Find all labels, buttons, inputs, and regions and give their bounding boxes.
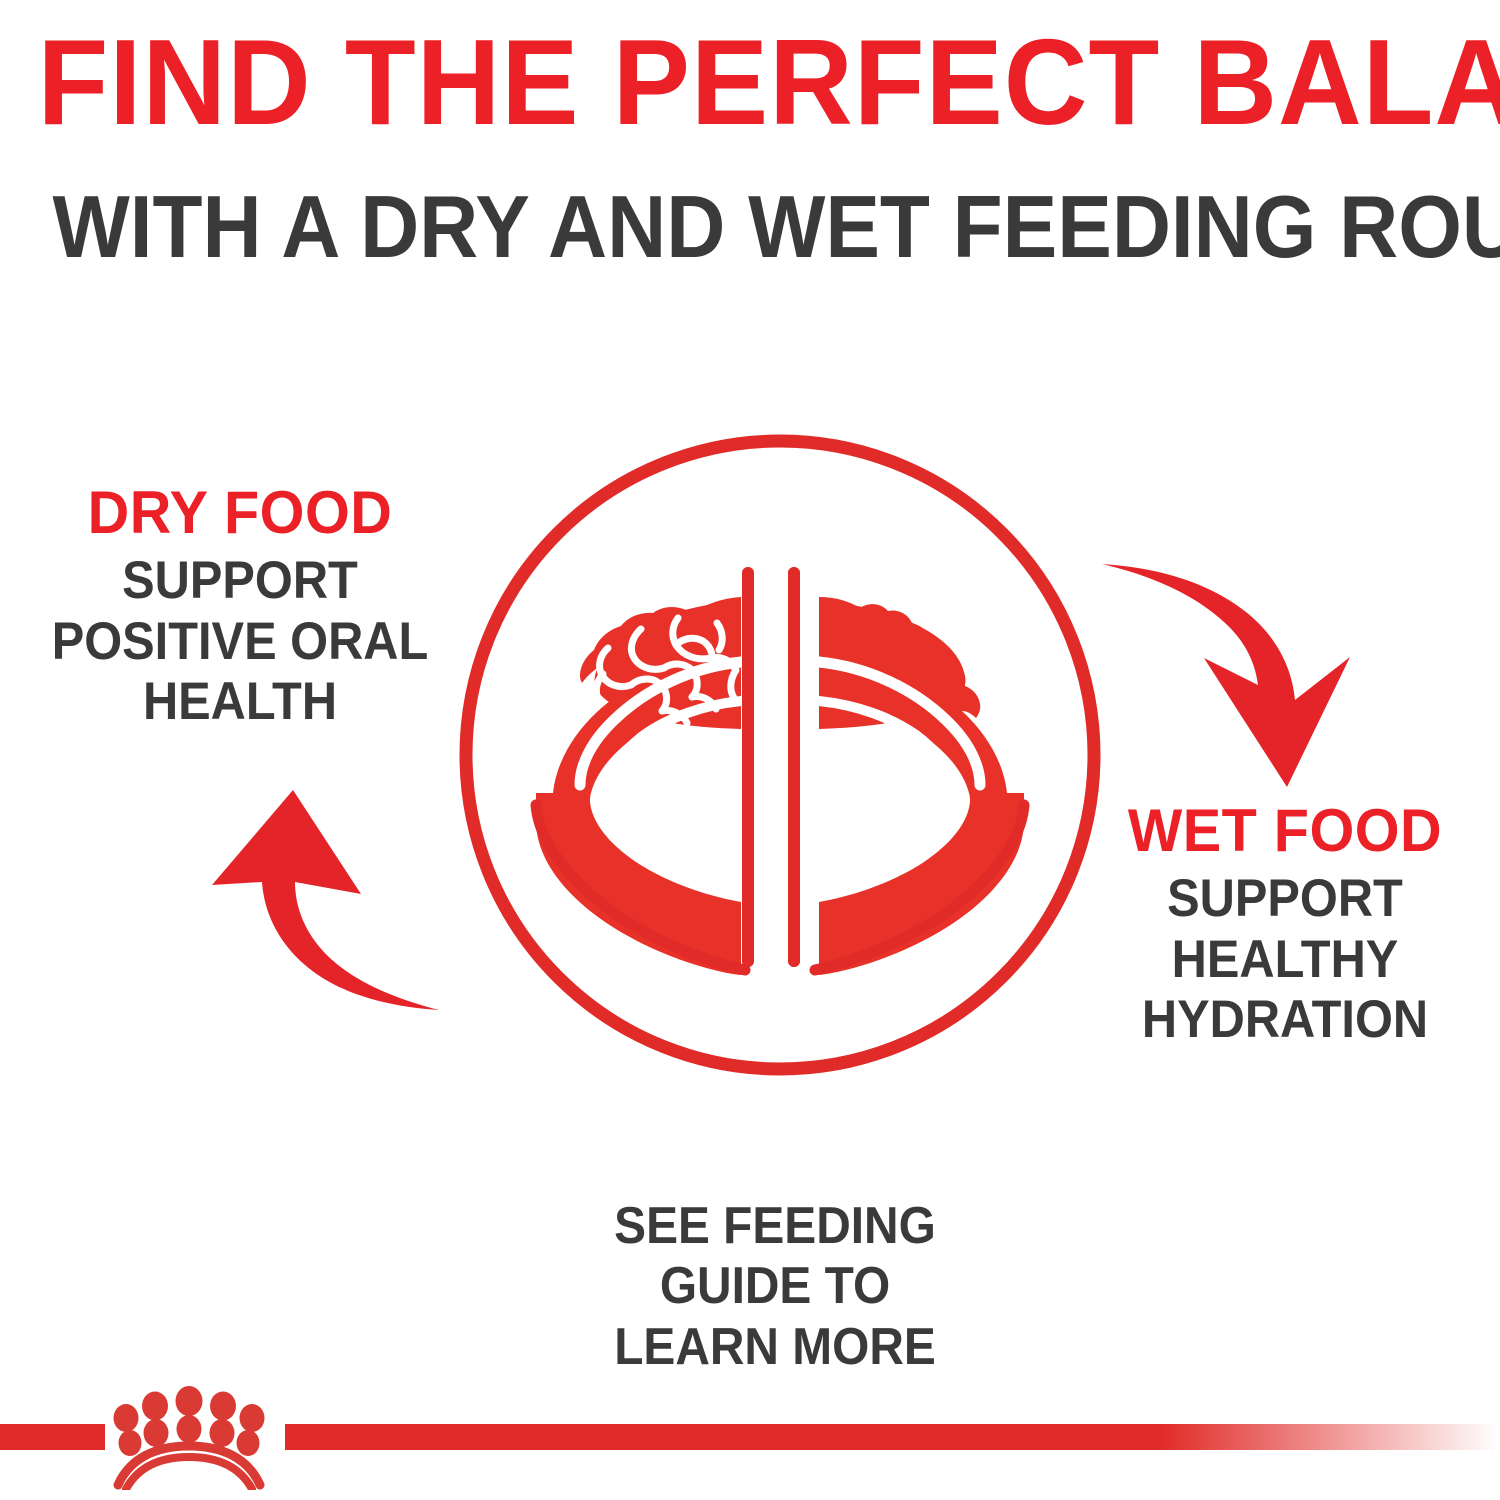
infographic-page: FIND THE PERFECT BALANCE WITH A DRY AND … (0, 0, 1500, 1500)
caption-line-2: GUIDE TO (536, 1256, 1014, 1316)
wet-food-line-1: SUPPORT HEALTHY (1087, 869, 1483, 990)
royal-canin-crown-logo (104, 1385, 274, 1490)
wet-food-kicker: WET FOOD (1079, 800, 1492, 861)
page-title: FIND THE PERFECT BALANCE (38, 18, 1463, 147)
footer-bar-left (0, 1424, 105, 1450)
curved-arrow-up-left-icon (198, 782, 443, 1017)
footer-bar-right (285, 1424, 1500, 1450)
dry-food-line-3: HEALTH (47, 672, 433, 732)
dry-food-kicker: DRY FOOD (38, 482, 441, 543)
caption-line-3: LEARN MORE (536, 1317, 1014, 1377)
split-food-bowl-icon (440, 415, 1120, 1105)
wet-food-block: WET FOOD SUPPORT HEALTHY HYDRATION (1070, 800, 1500, 1050)
caption-line-1: SEE FEEDING (536, 1196, 1014, 1256)
dry-food-block: DRY FOOD SUPPORT POSITIVE ORAL HEALTH (30, 482, 450, 732)
page-subtitle: WITH A DRY AND WET FEEDING ROUTINE (53, 180, 1448, 273)
dry-food-line-1: SUPPORT (47, 551, 433, 611)
dry-food-line-2: POSITIVE ORAL (47, 612, 433, 672)
dry-food-description: SUPPORT POSITIVE ORAL HEALTH (47, 551, 433, 732)
curved-arrow-down-right-icon (1100, 552, 1365, 797)
wet-food-description: SUPPORT HEALTHY HYDRATION (1087, 869, 1483, 1050)
feeding-guide-caption: SEE FEEDING GUIDE TO LEARN MORE (536, 1196, 1014, 1377)
wet-food-line-2: HYDRATION (1087, 990, 1483, 1050)
